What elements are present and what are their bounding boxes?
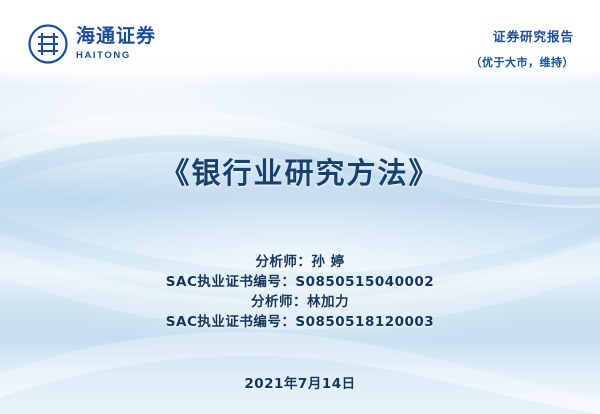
brand-logo: 海通证券 HAITONG (28, 24, 156, 64)
haitong-securities-logo-icon (28, 24, 68, 64)
author-line-1: 分析师：孙 婷 (0, 252, 600, 272)
presentation-cover-slide: 海通证券 HAITONG 证券研究报告 （优于大市，维持） 《银行业研究方法》 … (0, 0, 600, 414)
report-rating-label: （优于大市，维持） (471, 54, 575, 70)
page-title: 《银行业研究方法》 (0, 150, 600, 192)
author-license-2: SAC执业证书编号：S0850518120003 (0, 312, 600, 332)
brand-name-cn: 海通证券 (76, 27, 156, 46)
report-type-label: 证券研究报告 (471, 26, 575, 45)
author-line-2: 分析师：林加力 (0, 292, 600, 312)
report-label: 证券研究报告 （优于大市，维持） (471, 26, 575, 70)
publication-date: 2021年7月14日 (0, 372, 600, 392)
brand-name-en: HAITONG (76, 51, 156, 61)
author-block: 分析师：孙 婷 SAC执业证书编号：S0850515040002 分析师：林加力… (0, 252, 600, 332)
author-license-1: SAC执业证书编号：S0850515040002 (0, 272, 600, 292)
brand-logo-text: 海通证券 HAITONG (76, 27, 156, 61)
